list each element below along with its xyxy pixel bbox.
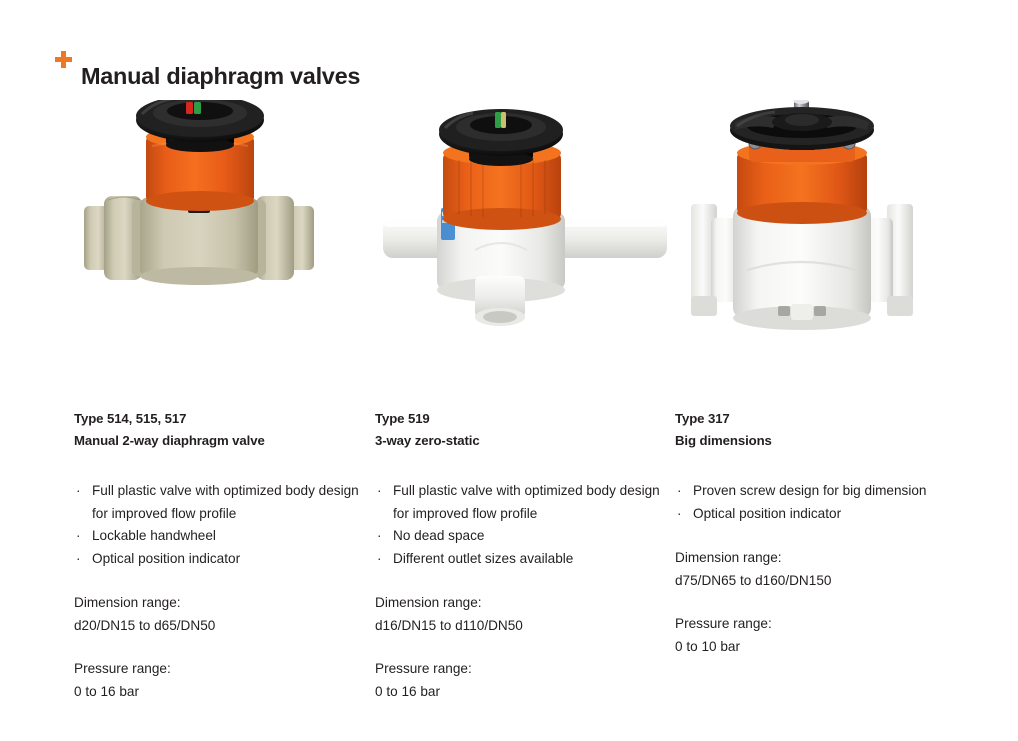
feature-text: Different outlet sizes available xyxy=(393,551,573,566)
valve-body xyxy=(140,198,258,285)
product-text-block: Type 317 Big dimensions · Proven screw d… xyxy=(675,408,960,658)
product-text-block: Type 514, 515, 517 Manual 2-way diaphrag… xyxy=(74,408,359,703)
feature-item: · Different outlet sizes available xyxy=(375,548,660,571)
bullet-glyph: · xyxy=(76,480,81,503)
feature-item: · Proven screw design for big dimension xyxy=(675,480,960,503)
spec-dimension-range: Dimension range: d75/DN65 to d160/DN150 xyxy=(675,547,960,592)
bullet-glyph: · xyxy=(677,480,682,503)
bullet-glyph: · xyxy=(377,548,382,571)
feature-list: · Full plastic valve with optimized body… xyxy=(74,480,359,570)
valve-317-photo xyxy=(675,100,975,360)
valve-image-stage xyxy=(675,100,975,360)
spec-label: Pressure range: xyxy=(74,658,359,681)
spec-label: Pressure range: xyxy=(375,658,660,681)
bullet-glyph: · xyxy=(377,480,382,503)
spec-pressure-range: Pressure range: 0 to 16 bar xyxy=(74,658,359,703)
page-header: Manual diaphragm valves xyxy=(55,48,360,104)
valve-519-photo xyxy=(375,100,675,360)
feature-item: · Optical position indicator xyxy=(74,548,359,571)
product-type-label: Type 519 xyxy=(375,408,660,430)
feature-list: · Proven screw design for big dimension … xyxy=(675,480,960,525)
valve-image-stage xyxy=(375,100,675,360)
feature-item: · Lockable handwheel xyxy=(74,525,359,548)
product-column-514: Type 514, 515, 517 Manual 2-way diaphrag… xyxy=(74,100,374,360)
spec-value: 0 to 10 bar xyxy=(675,636,960,659)
spec-label: Dimension range: xyxy=(375,592,660,615)
spec-value: d75/DN65 to d160/DN150 xyxy=(675,570,960,593)
spec-dimension-range: Dimension range: d16/DN15 to d110/DN50 xyxy=(375,592,660,637)
spec-dimension-range: Dimension range: d20/DN15 to d65/DN50 xyxy=(74,592,359,637)
bullet-glyph: · xyxy=(76,548,81,571)
product-type-subtitle: Big dimensions xyxy=(675,430,960,452)
spec-value: d16/DN15 to d110/DN50 xyxy=(375,615,660,638)
feature-text: Lockable handwheel xyxy=(92,528,216,543)
feature-item: · Full plastic valve with optimized body… xyxy=(74,480,359,525)
union-nut-right xyxy=(252,196,314,280)
feature-item: · No dead space xyxy=(375,525,660,548)
feature-list: · Full plastic valve with optimized body… xyxy=(375,480,660,570)
valve-image-stage xyxy=(74,100,374,360)
product-type-label: Type 317 xyxy=(675,408,960,430)
spec-value: 0 to 16 bar xyxy=(74,681,359,704)
spec-pressure-range: Pressure range: 0 to 10 bar xyxy=(675,613,960,658)
spec-pressure-range: Pressure range: 0 to 16 bar xyxy=(375,658,660,703)
product-type-label: Type 514, 515, 517 xyxy=(74,408,359,430)
product-text-block: Type 519 3-way zero-static · Full plasti… xyxy=(375,408,660,703)
product-column-317: Type 317 Big dimensions · Proven screw d… xyxy=(675,100,975,360)
spec-label: Pressure range: xyxy=(675,613,960,636)
product-column-519: Type 519 3-way zero-static · Full plasti… xyxy=(375,100,675,360)
valve-514-515-517-photo xyxy=(74,100,374,360)
feature-text: Proven screw design for big dimension xyxy=(693,483,926,498)
spec-value: 0 to 16 bar xyxy=(375,681,660,704)
plus-icon xyxy=(55,51,72,68)
product-type-subtitle: 3-way zero-static xyxy=(375,430,660,452)
spec-label: Dimension range: xyxy=(74,592,359,615)
feature-text: Full plastic valve with optimized body d… xyxy=(393,483,660,521)
feature-text: Optical position indicator xyxy=(693,506,841,521)
feature-text: Full plastic valve with optimized body d… xyxy=(92,483,359,521)
union-nut-left xyxy=(84,196,146,280)
valve-body xyxy=(733,206,871,330)
spec-value: d20/DN15 to d65/DN50 xyxy=(74,615,359,638)
feature-item: · Full plastic valve with optimized body… xyxy=(375,480,660,525)
page-title: Manual diaphragm valves xyxy=(81,64,360,89)
bottom-outlet xyxy=(475,276,525,326)
handwheel xyxy=(730,107,874,150)
bullet-glyph: · xyxy=(677,503,682,526)
feature-text: No dead space xyxy=(393,528,484,543)
product-type-subtitle: Manual 2-way diaphragm valve xyxy=(74,430,359,452)
spec-label: Dimension range: xyxy=(675,547,960,570)
feature-text: Optical position indicator xyxy=(92,551,240,566)
feature-item: · Optical position indicator xyxy=(675,503,960,526)
position-indicator xyxy=(495,112,506,128)
bullet-glyph: · xyxy=(377,525,382,548)
bullet-glyph: · xyxy=(76,525,81,548)
